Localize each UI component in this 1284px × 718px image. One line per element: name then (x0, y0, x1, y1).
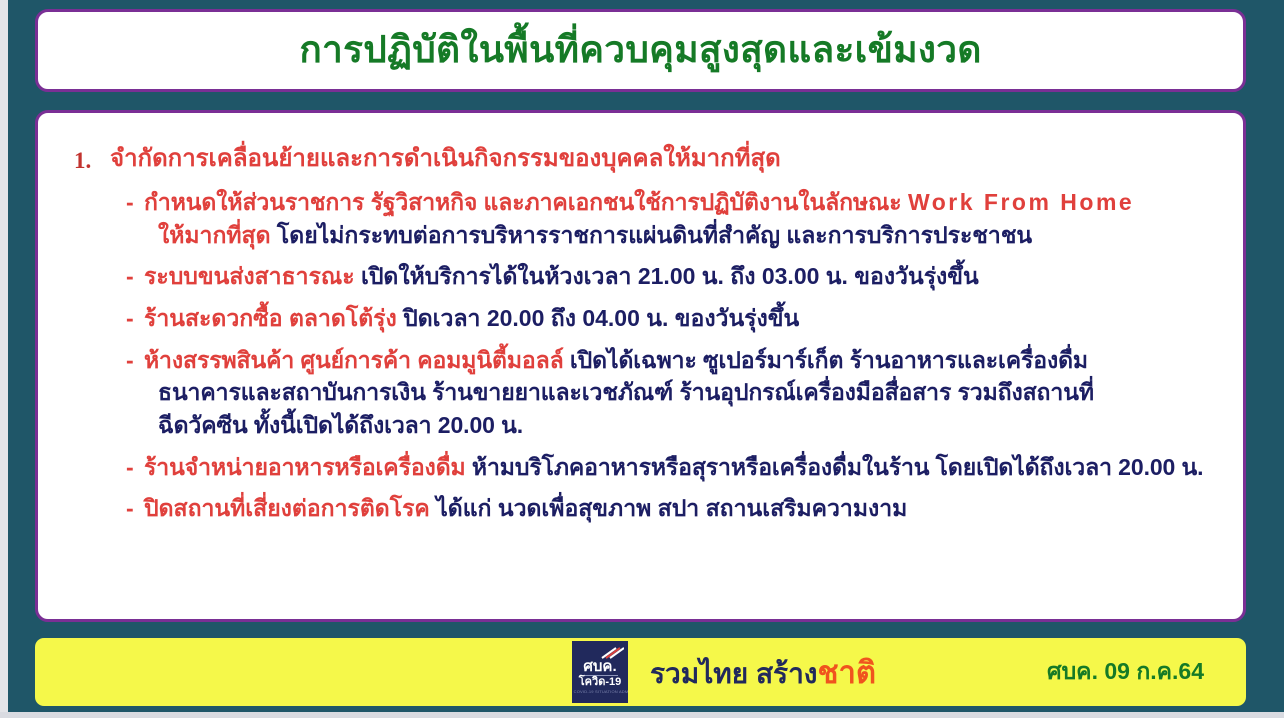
bullet-emphasis: Work From Home (908, 189, 1134, 215)
bullet-lead: ร้านสะดวกซื้อ ตลาดโต้รุ่ง (144, 305, 397, 331)
campaign-slogan: รวมไทย สร้างชาติ (650, 647, 876, 697)
footer-bar: ศบค. โควิด-19 CENTER FOR COVID-19 SITUAT… (35, 638, 1246, 706)
brand-lockup: ศบค. โควิด-19 CENTER FOR COVID-19 SITUAT… (572, 640, 876, 704)
footer-date-label: ศบค. 09 ก.ค.64 (1047, 654, 1204, 690)
bullet-text: ระบบขนส่งสาธารณะ เปิดให้บริการได้ในห้วงเ… (144, 260, 1225, 293)
slogan-part-2: ชาติ (817, 655, 876, 690)
bullet-second-line: ธนาคารและสถาบันการเงิน ร้านขายยาและเวชภั… (144, 376, 1225, 409)
bullet-lead: ระบบขนส่งสาธารณะ (144, 263, 355, 289)
slogan-part-1: รวมไทย สร้าง (650, 658, 817, 689)
content-panel: 1. จำกัดการเคลื่อนย้ายและการดำเนินกิจกรร… (35, 110, 1246, 622)
list-item: - ระบบขนส่งสาธารณะ เปิดให้บริการได้ในห้ว… (126, 260, 1225, 293)
numbered-item-1: 1. จำกัดการเคลื่อนย้ายและการดำเนินกิจกรร… (74, 147, 1225, 172)
logo-abbreviation: ศบค. (583, 659, 616, 674)
bullet-rest: เปิดได้เฉพาะ ซูเปอร์มาร์เก็ต ร้านอาหารแล… (570, 347, 1088, 373)
bullet-second-line: ให้มากที่สุด โดยไม่กระทบต่อการบริหารราชก… (144, 219, 1225, 252)
logo-sub-label: CENTER FOR COVID-19 SITUATION ADMINISTRA… (572, 690, 628, 694)
page-title: การปฏิบัติในพื้นที่ควบคุมสูงสุดและเข้มงว… (299, 31, 981, 70)
bullet-text: กำหนดให้ส่วนราชการ รัฐวิสาหกิจ และภาคเอก… (144, 186, 1225, 251)
bullet-dash: - (126, 344, 144, 377)
bullet-text: ห้างสรรพสินค้า ศูนย์การค้า คอมมูนิตี้มอล… (144, 344, 1225, 442)
bullet-list: - กำหนดให้ส่วนราชการ รัฐวิสาหกิจ และภาคเ… (74, 186, 1225, 525)
bullet-dash: - (126, 302, 144, 335)
bullet-text: ร้านจำหน่ายอาหารหรือเครื่องดื่ม ห้ามบริโ… (144, 451, 1225, 484)
csa-logo: ศบค. โควิด-19 CENTER FOR COVID-19 SITUAT… (572, 641, 628, 703)
item-number: 1. (74, 147, 110, 172)
bullet-second-line-lead: ให้มากที่สุด (158, 222, 271, 248)
bullet-lead: ห้างสรรพสินค้า ศูนย์การค้า คอมมูนิตี้มอล… (144, 347, 564, 373)
title-panel: การปฏิบัติในพื้นที่ควบคุมสูงสุดและเข้มงว… (35, 9, 1246, 92)
bullet-rest: เปิดให้บริการได้ในห้วงเวลา 21.00 น. ถึง … (361, 263, 979, 289)
bullet-dash: - (126, 492, 144, 525)
item-heading: จำกัดการเคลื่อนย้ายและการดำเนินกิจกรรมขอ… (110, 147, 781, 171)
swoosh-icon (600, 646, 624, 660)
bullet-dash: - (126, 260, 144, 293)
bullet-third-line: ฉีดวัคซีน ทั้งนี้เปิดได้ถึงเวลา 20.00 น. (144, 409, 1225, 442)
bullet-rest: ปิดเวลา 20.00 ถึง 04.00 น. ของวันรุ่งขึ้… (403, 305, 799, 331)
bullet-lead: ปิดสถานที่เสี่ยงต่อการติดโรค (144, 495, 430, 521)
list-item: - กำหนดให้ส่วนราชการ รัฐวิสาหกิจ และภาคเ… (126, 186, 1225, 251)
logo-covid-label: โควิด-19 (579, 677, 622, 688)
bullet-rest: ได้แก่ นวดเพื่อสุขภาพ สปา สถานเสริมความง… (436, 495, 907, 521)
bullet-lead: ร้านจำหน่ายอาหารหรือเครื่องดื่ม (144, 454, 466, 480)
bullet-text: ปิดสถานที่เสี่ยงต่อการติดโรค ได้แก่ นวดเ… (144, 492, 1225, 525)
list-item: - ห้างสรรพสินค้า ศูนย์การค้า คอมมูนิตี้ม… (126, 344, 1225, 442)
bullet-dash: - (126, 186, 144, 219)
bullet-text: ร้านสะดวกซื้อ ตลาดโต้รุ่ง ปิดเวลา 20.00 … (144, 302, 1225, 335)
bullet-dash: - (126, 451, 144, 484)
bullet-lead: กำหนดให้ส่วนราชการ รัฐวิสาหกิจ และภาคเอก… (144, 189, 902, 215)
list-item: - ร้านสะดวกซื้อ ตลาดโต้รุ่ง ปิดเวลา 20.0… (126, 302, 1225, 335)
bullet-second-line-rest: โดยไม่กระทบต่อการบริหารราชการแผ่นดินที่ส… (277, 222, 1032, 248)
list-item: - ปิดสถานที่เสี่ยงต่อการติดโรค ได้แก่ นว… (126, 492, 1225, 525)
list-item: - ร้านจำหน่ายอาหารหรือเครื่องดื่ม ห้ามบร… (126, 451, 1225, 484)
slide-canvas: การปฏิบัติในพื้นที่ควบคุมสูงสุดและเข้มงว… (0, 0, 1284, 718)
bullet-rest: ห้ามบริโภคอาหารหรือสุราหรือเครื่องดื่มใน… (472, 454, 1204, 480)
